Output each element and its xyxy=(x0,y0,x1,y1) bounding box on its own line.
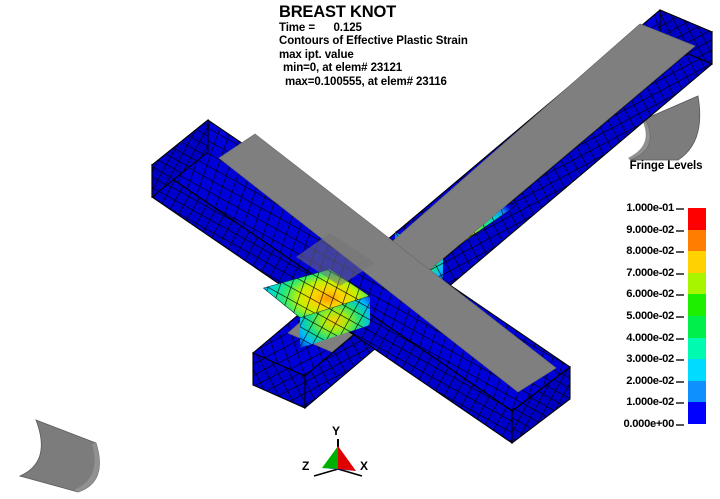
fringe-band-2[interactable] xyxy=(688,251,706,273)
fringe-label-column: 1.000e-019.000e-028.000e-027.000e-026.00… xyxy=(600,184,686,430)
axis-x-triangle xyxy=(338,446,356,471)
fringe-levels-legend[interactable]: Fringe Levels 1.000e-019.000e-028.000e-0… xyxy=(600,160,718,430)
fringe-band-1[interactable] xyxy=(688,230,706,252)
fringe-band-7[interactable] xyxy=(688,359,706,381)
contour-description-line: Contours of Effective Plastic Strain xyxy=(279,35,609,48)
fringe-band-9[interactable] xyxy=(688,402,706,424)
fringe-tick-6 xyxy=(676,338,684,340)
fringe-label-5: 5.000e-02 xyxy=(626,310,674,322)
max-value-line: max=0.100555, at elem# 23116 xyxy=(279,76,609,89)
fringe-label-2: 8.000e-02 xyxy=(626,245,674,257)
fringe-tick-10 xyxy=(676,424,684,426)
title-block: BREAST KNOT Time = 0.125 Contours of Eff… xyxy=(279,4,609,89)
fringe-band-6[interactable] xyxy=(688,338,706,360)
fringe-label-4: 6.000e-02 xyxy=(626,288,674,300)
fringe-band-8[interactable] xyxy=(688,381,706,403)
fringe-label-1: 9.000e-02 xyxy=(626,224,674,236)
fringe-tick-4 xyxy=(676,294,684,296)
axis-triad[interactable]: Y X Z xyxy=(300,424,376,482)
fringe-label-3: 7.000e-02 xyxy=(626,267,674,279)
render-canvas: BREAST KNOT Time = 0.125 Contours of Eff… xyxy=(0,0,720,499)
integration-point-line: max ipt. value xyxy=(279,49,609,62)
fringe-legend-body: 1.000e-019.000e-028.000e-027.000e-026.00… xyxy=(600,184,718,430)
fringe-tick-3 xyxy=(676,273,684,275)
fringe-tick-5 xyxy=(676,316,684,318)
min-value-line: min=0, at elem# 23121 xyxy=(279,62,609,75)
fringe-color-bar[interactable] xyxy=(688,208,706,424)
fringe-band-3[interactable] xyxy=(688,273,706,295)
fringe-band-5[interactable] xyxy=(688,316,706,338)
fringe-label-0: 1.000e-01 xyxy=(626,202,674,214)
fringe-levels-title: Fringe Levels xyxy=(616,160,716,172)
fringe-tick-7 xyxy=(676,359,684,361)
fringe-tick-9 xyxy=(676,402,684,404)
fringe-tick-2 xyxy=(676,251,684,253)
axis-label-z: Z xyxy=(302,459,309,473)
fringe-label-7: 3.000e-02 xyxy=(626,353,674,365)
time-line: Time = 0.125 xyxy=(279,22,609,35)
fringe-label-8: 2.000e-02 xyxy=(626,375,674,387)
fringe-band-4[interactable] xyxy=(688,294,706,316)
fringe-label-10: 0.000e+00 xyxy=(624,418,675,430)
fringe-tick-0 xyxy=(676,208,684,210)
fringe-band-0[interactable] xyxy=(688,208,706,230)
axis-y-triangle xyxy=(322,446,338,469)
axis-label-x: X xyxy=(360,459,368,473)
axis-label-y: Y xyxy=(332,424,340,438)
fringe-label-6: 4.000e-02 xyxy=(626,332,674,344)
page-title: BREAST KNOT xyxy=(279,4,609,21)
fringe-tick-8 xyxy=(676,381,684,383)
fringe-tick-1 xyxy=(676,230,684,232)
fringe-label-9: 1.000e-02 xyxy=(626,396,674,408)
